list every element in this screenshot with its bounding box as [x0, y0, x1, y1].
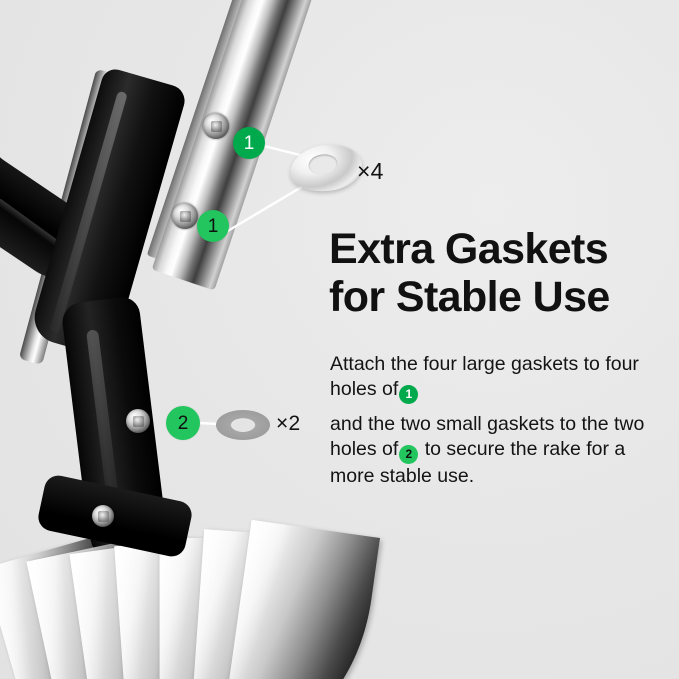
headline-line-2: for Stable Use	[329, 273, 659, 321]
bolt-lower-1	[172, 203, 198, 229]
headline-line-1: Extra Gaskets	[329, 225, 659, 273]
instruction-paragraph-1: Attach the four large gaskets to four ho…	[330, 352, 660, 404]
inline-badge-2: 2	[399, 445, 418, 464]
callout-badge-1-lower: 1	[197, 210, 229, 242]
callout-badge-1-upper: 1	[233, 127, 265, 159]
callout-badge-2: 2	[166, 406, 200, 440]
small-gasket-quantity: ×2	[276, 412, 300, 436]
bolt-2	[126, 409, 150, 433]
instruction-paragraph-2: and the two small gaskets to the two hol…	[330, 412, 660, 489]
large-gasket-quantity: ×4	[357, 158, 384, 185]
infographic-canvas: ×4 ×2 1 1 2 Extra Gaskets for Stable Use…	[0, 0, 679, 679]
small-gasket-ring	[216, 410, 270, 440]
inline-badge-1: 1	[399, 385, 418, 404]
bolt-head	[92, 505, 114, 527]
paragraph-1-text: Attach the four large gaskets to four ho…	[330, 353, 639, 400]
headline: Extra Gaskets for Stable Use	[329, 225, 659, 321]
product-photo-rake	[0, 0, 679, 679]
bolt-upper-1	[203, 113, 229, 139]
